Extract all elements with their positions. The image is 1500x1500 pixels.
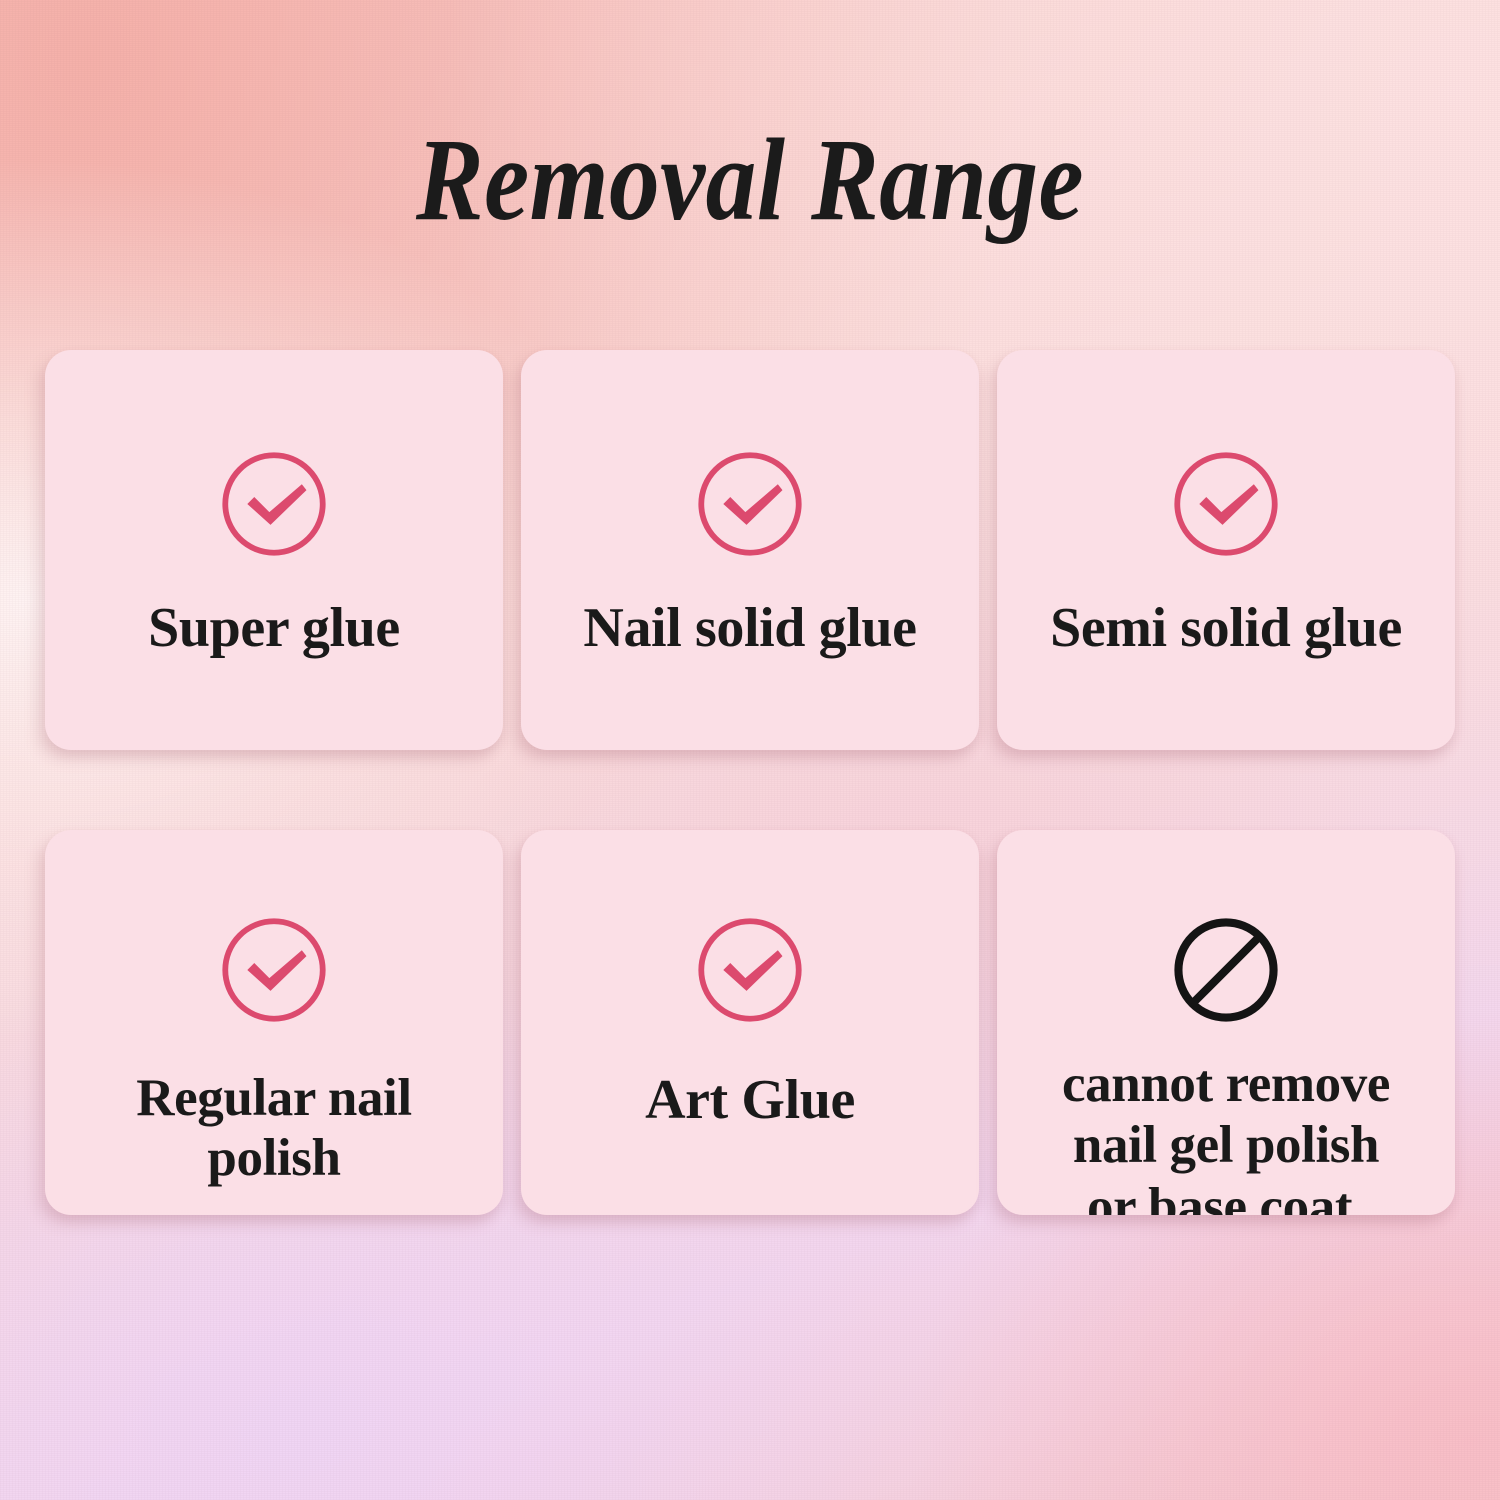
- card-cannot-remove: cannot remove nail gel polish or base co…: [997, 830, 1455, 1215]
- prohibition-icon: [1168, 912, 1284, 1028]
- poster-canvas: Removal Range Super glue Nail solid glue: [0, 0, 1500, 1500]
- card-nail-solid-glue: Nail solid glue: [521, 350, 979, 750]
- page-title: Removal Range: [105, 118, 1395, 242]
- card-label: Super glue: [130, 596, 418, 661]
- card-label: Semi solid glue: [1032, 596, 1420, 661]
- check-circle-icon: [692, 446, 808, 562]
- check-circle-icon: [1168, 446, 1284, 562]
- check-circle-icon: [216, 912, 332, 1028]
- card-label: Nail solid glue: [565, 596, 934, 661]
- card-label: cannot remove nail gel polish or base co…: [1044, 1054, 1408, 1215]
- card-label: Art Glue: [627, 1068, 873, 1133]
- check-circle-icon: [692, 912, 808, 1028]
- check-circle-icon: [216, 446, 332, 562]
- card-semi-solid-glue: Semi solid glue: [997, 350, 1455, 750]
- card-art-glue: Art Glue: [521, 830, 979, 1215]
- card-regular-nail-polish: Regular nail polish: [45, 830, 503, 1215]
- card-label: Regular nail polish: [118, 1068, 429, 1189]
- card-super-glue: Super glue: [45, 350, 503, 750]
- card-grid: Super glue Nail solid glue Semi solid gl…: [45, 350, 1455, 1215]
